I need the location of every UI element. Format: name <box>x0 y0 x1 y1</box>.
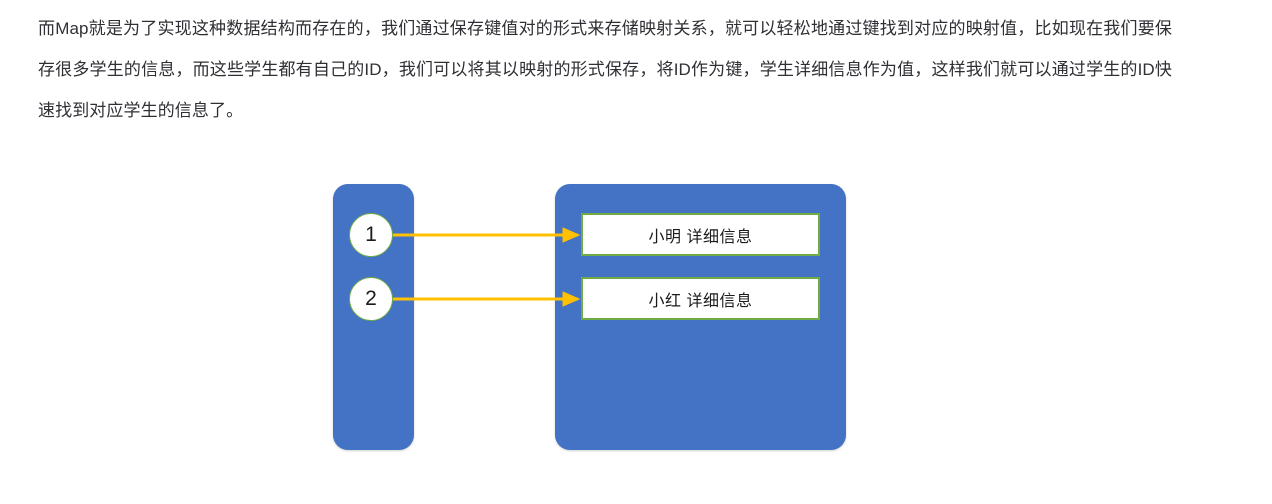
key-node-2: 2 <box>349 277 393 321</box>
value-box-1: 小明 详细信息 <box>581 213 820 256</box>
key-node-2-label: 2 <box>365 287 377 311</box>
value-box-2-label: 小红 详细信息 <box>649 287 753 311</box>
key-node-1-label: 1 <box>365 223 377 247</box>
value-box-2: 小红 详细信息 <box>581 277 820 320</box>
key-node-1: 1 <box>349 213 393 257</box>
map-diagram: 1 2 小明 详细信息 小红 详细信息 <box>0 0 1272 504</box>
value-box-1-label: 小明 详细信息 <box>649 223 753 247</box>
